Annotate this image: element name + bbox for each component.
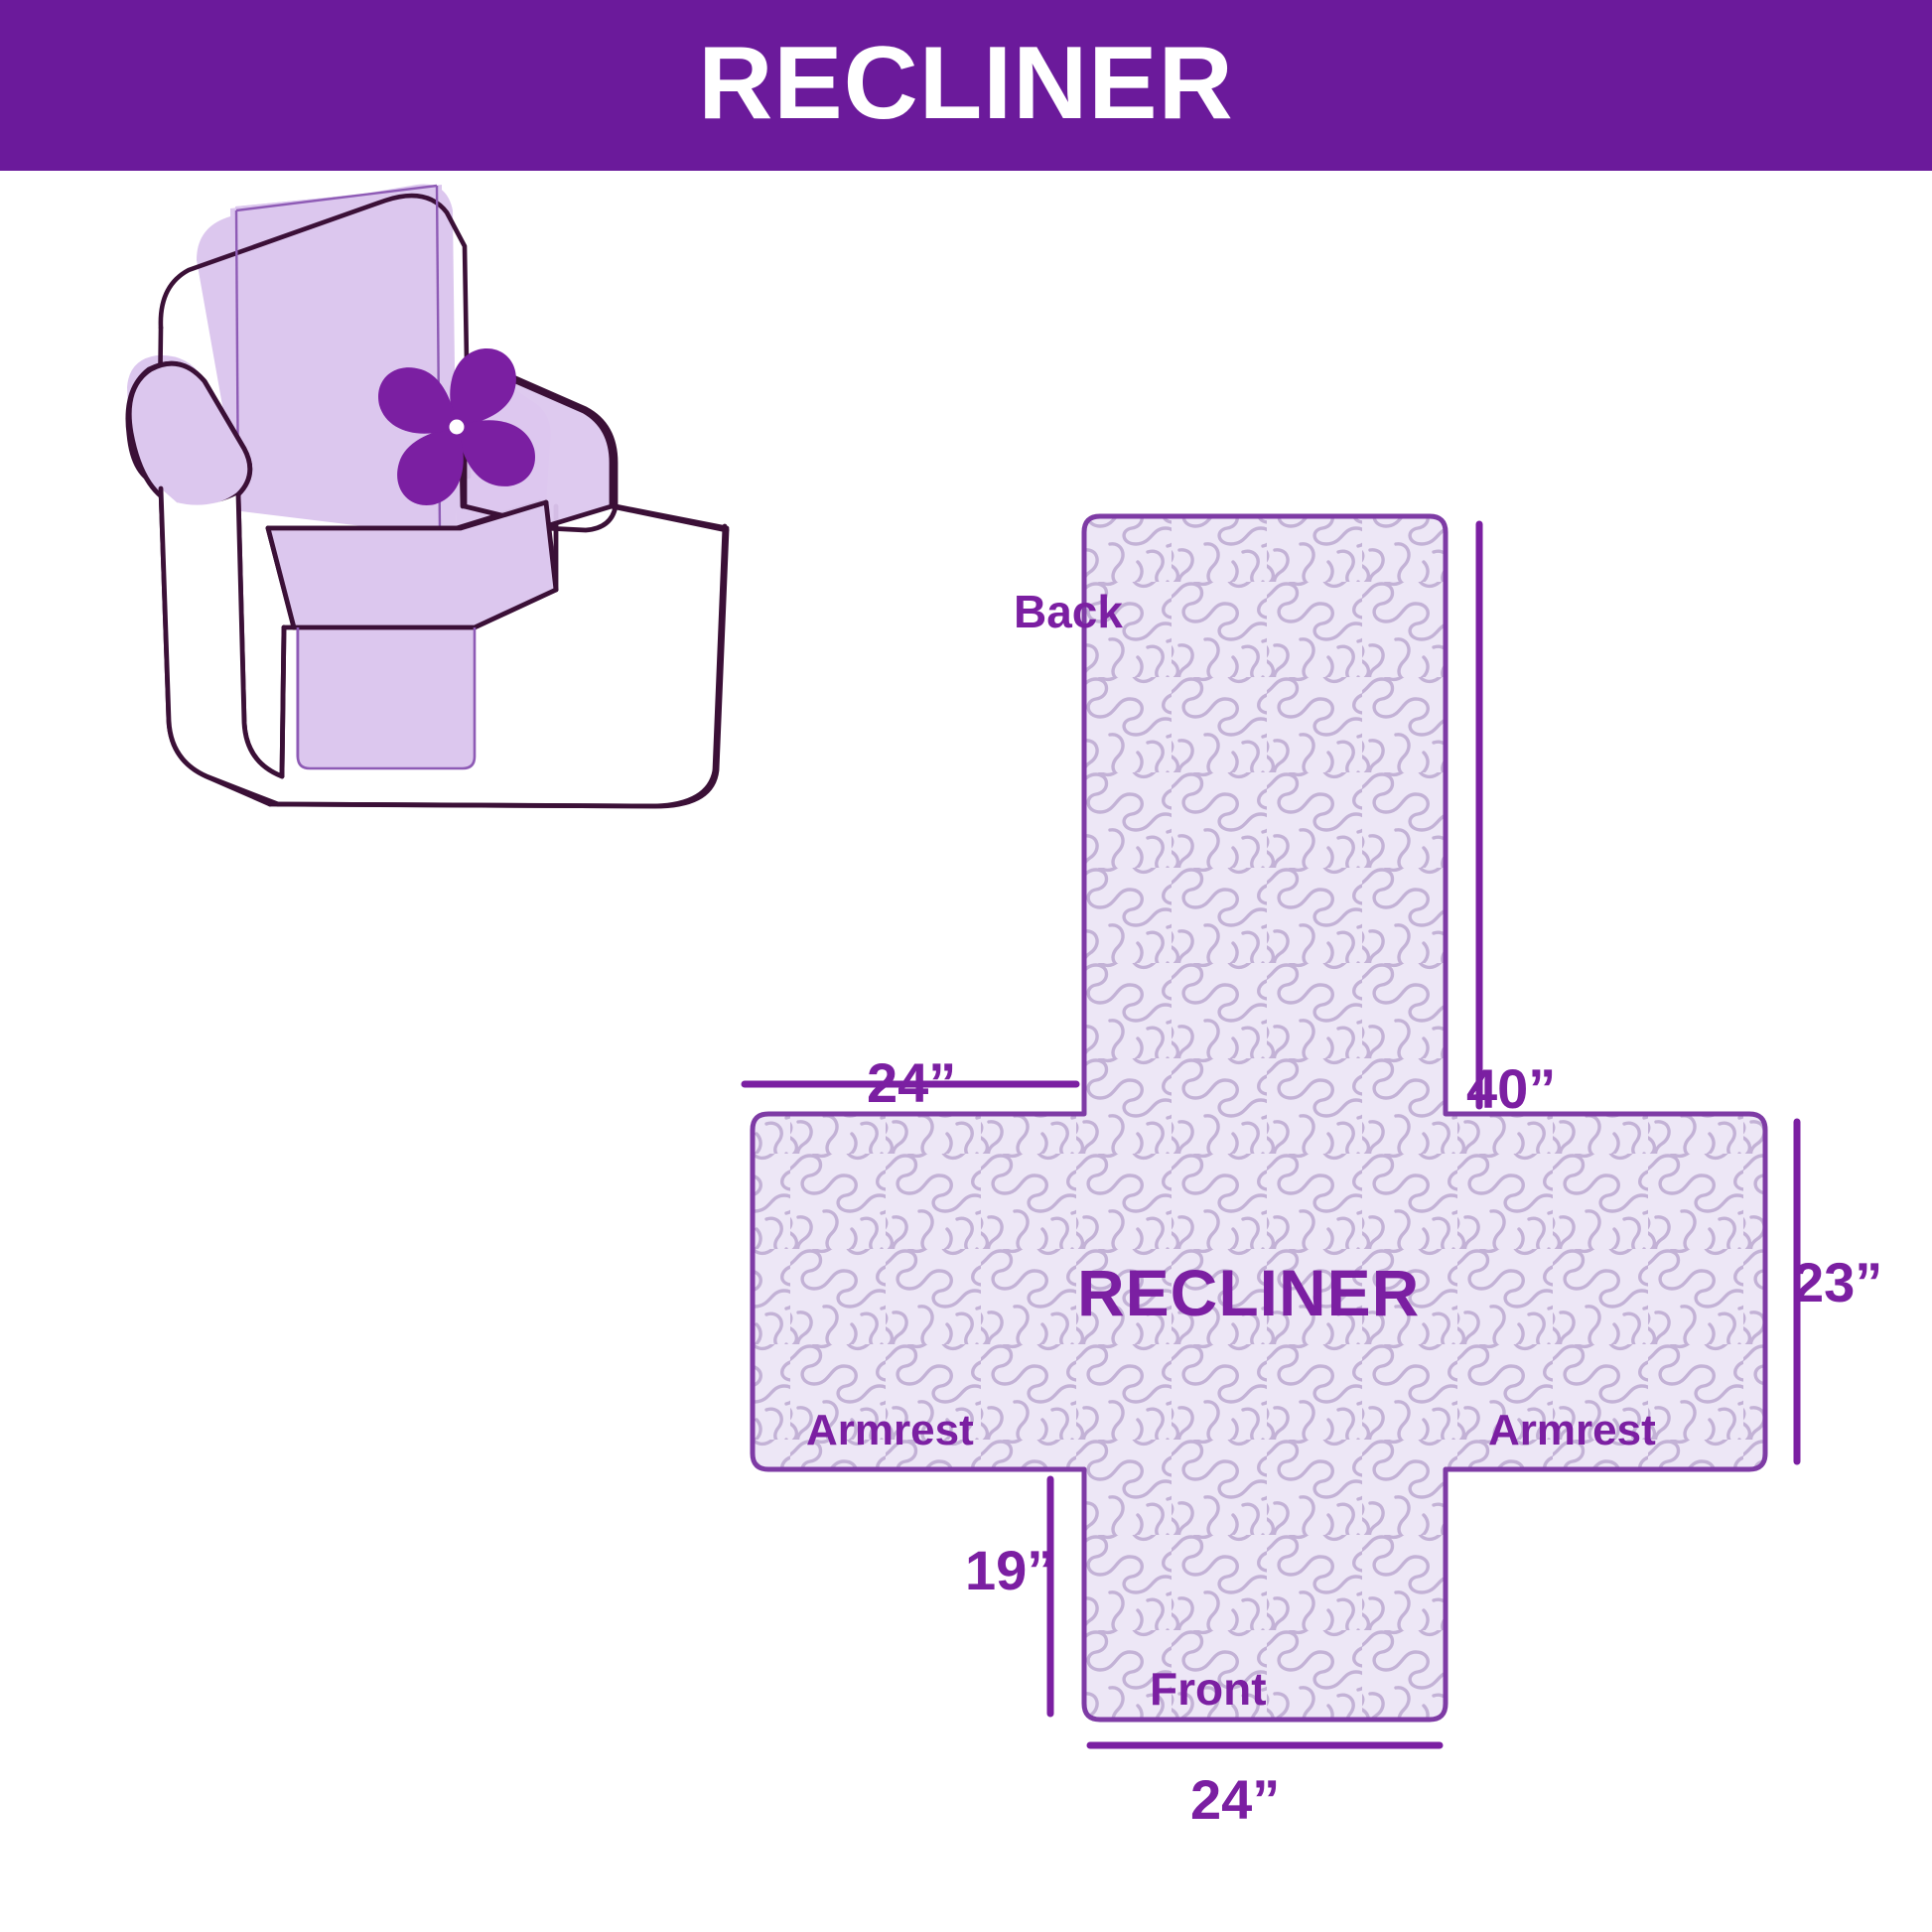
header-banner: RECLINER: [0, 0, 1932, 171]
page-title: RECLINER: [698, 32, 1234, 135]
dimension-label-back-height: 40”: [1466, 1061, 1556, 1117]
panel-label-armrest-right: Armrest: [1488, 1409, 1656, 1452]
dimension-label-front-width: 24”: [1190, 1772, 1280, 1828]
dimension-label-armrest-height: 23”: [1793, 1255, 1882, 1311]
panel-label-front: Front: [1150, 1666, 1267, 1712]
panel-label-armrest-left: Armrest: [806, 1409, 974, 1452]
dimension-label-front-height: 19”: [965, 1543, 1054, 1598]
cover-cross-diagram: [695, 486, 1932, 1876]
panel-label-back: Back: [1014, 589, 1123, 634]
pinwheel-fan-logo: [378, 348, 535, 505]
product-dimension-infographic: RECLINER: [0, 0, 1932, 1932]
cover-product-label: RECLINER: [1077, 1260, 1420, 1325]
dimension-label-back-width: 24”: [867, 1055, 956, 1111]
